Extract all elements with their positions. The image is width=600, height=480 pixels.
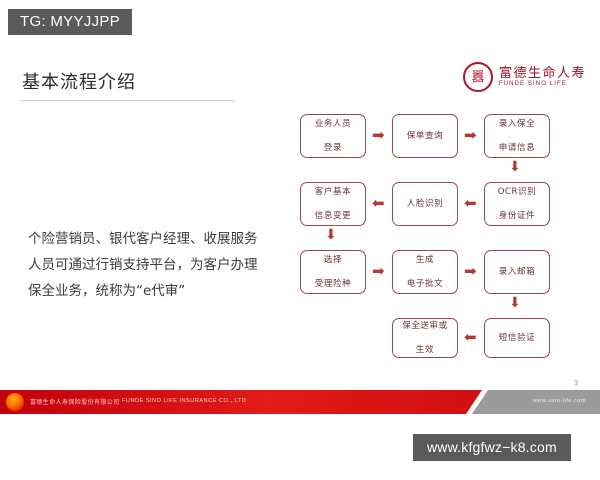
flow-node-3-line2: 申请信息 xyxy=(499,142,535,154)
flow-arrow-9-down-icon: ⬇ xyxy=(509,296,521,310)
flow-arrow-6-down-icon: ⬇ xyxy=(325,228,337,242)
flow-node-1: 业务人员 登录 xyxy=(300,114,366,158)
brand-seal-icon: 囂 xyxy=(463,62,493,92)
flow-node-5-line1: 人脸识别 xyxy=(407,198,443,210)
flow-node-1-line2: 登录 xyxy=(315,142,351,154)
flow-node-8-line1: 生成 xyxy=(407,254,443,266)
flow-node-4: OCR识别 身份证件 xyxy=(484,182,550,226)
flow-node-5: 人脸识别 xyxy=(392,182,458,226)
brand-logo: 囂 富德生命人寿 FUNDE SINO LIFE xyxy=(463,62,586,92)
flow-arrow-3-down-icon: ⬇ xyxy=(509,160,521,174)
footer-website: www.sino-life.com xyxy=(533,398,586,404)
flow-node-4-line1: OCR识别 xyxy=(498,186,537,198)
flow-node-11-line1: 保全送审或 xyxy=(402,320,448,332)
page-title: 基本流程介绍 xyxy=(22,68,136,94)
flow-node-6-line1: 客户基本 xyxy=(315,186,351,198)
flow-arrow-7-right-icon: ➡ xyxy=(372,264,385,279)
flow-arrow-2-right-icon: ➡ xyxy=(464,128,477,143)
flow-node-8: 生成 电子批文 xyxy=(392,250,458,294)
flow-arrow-1-right-icon: ➡ xyxy=(372,128,385,143)
flow-arrow-4-left-icon: ⬅ xyxy=(464,196,477,211)
flow-node-4-line2: 身份证件 xyxy=(498,210,537,222)
flow-node-2-line1: 保单查询 xyxy=(407,130,443,142)
flow-node-11-line2: 生效 xyxy=(402,344,448,356)
flow-node-7-line1: 选择 xyxy=(315,254,351,266)
flow-node-7: 选择 受理险种 xyxy=(300,250,366,294)
flow-arrow-5-left-icon: ⬅ xyxy=(372,196,385,211)
flow-arrow-10-left-icon: ⬅ xyxy=(464,330,477,345)
flow-node-10-line1: 短信验证 xyxy=(499,332,535,344)
footer-company-cn: 富德生命人寿保险股份有限公司 xyxy=(30,397,120,406)
flow-node-6-line2: 信息变更 xyxy=(315,210,351,222)
brand-name-cn: 富德生命人寿 xyxy=(499,67,586,81)
flow-node-9: 录入邮箱 xyxy=(484,250,550,294)
flow-node-1-line1: 业务人员 xyxy=(315,118,351,130)
top-watermark-badge: TG: MYYJJPP xyxy=(8,9,132,35)
flow-node-8-line2: 电子批文 xyxy=(407,278,443,290)
slide-footer: 富德生命人寿保险股份有限公司 FUNDE SINO LIFE INSURANCE… xyxy=(0,390,600,414)
body-paragraph: 个险营销员、银代客户经理、收展服务人员可通过行销支持平台，为客户办理保全业务，统… xyxy=(28,226,260,304)
flow-node-2: 保单查询 xyxy=(392,114,458,158)
footer-company-en: FUNDE SINO LIFE INSURANCE CO., LTD xyxy=(122,398,246,404)
slide-canvas: 基本流程介绍 囂 富德生命人寿 FUNDE SINO LIFE 个险营销员、银代… xyxy=(0,48,600,420)
flow-node-10: 短信验证 xyxy=(484,318,550,358)
flow-node-11: 保全送审或 生效 xyxy=(392,318,458,358)
flowchart: 业务人员 登录 ➡ 保单查询 ➡ 录入保全 申请信息 ⬇ OCR识别 身份证件 … xyxy=(292,106,592,356)
brand-name-en: FUNDE SINO LIFE xyxy=(499,81,586,87)
title-divider xyxy=(20,100,235,101)
flow-node-3: 录入保全 申请信息 xyxy=(484,114,550,158)
flow-node-3-line1: 录入保全 xyxy=(499,118,535,130)
bottom-watermark-url: www.kfgfwz−k8.com xyxy=(413,434,571,461)
flow-node-6: 客户基本 信息变更 xyxy=(300,182,366,226)
brand-text: 富德生命人寿 FUNDE SINO LIFE xyxy=(499,67,586,88)
footer-logo-icon xyxy=(6,393,24,411)
flow-node-7-line2: 受理险种 xyxy=(315,278,351,290)
flow-arrow-8-right-icon: ➡ xyxy=(464,264,477,279)
page-number: 3 xyxy=(574,380,578,387)
flow-node-9-line1: 录入邮箱 xyxy=(499,266,535,278)
